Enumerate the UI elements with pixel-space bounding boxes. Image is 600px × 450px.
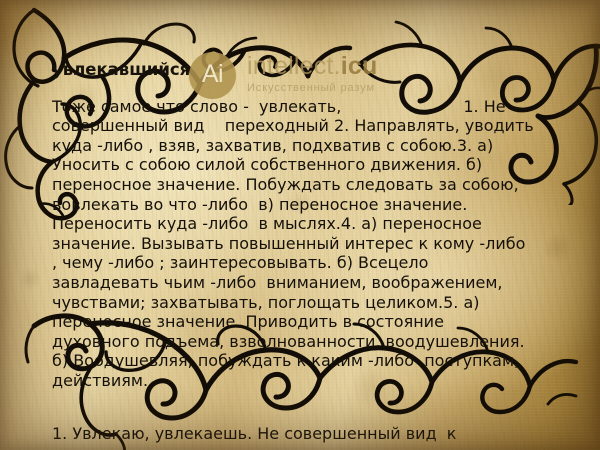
page-title: увлекавшийся [52, 60, 532, 81]
definition-body-text: Тоже самое что слово - увлекать, 1. Не с… [52, 97, 534, 391]
definition-tail-text: 1. Увлекаю, увлекаешь. Не совершенный ви… [52, 424, 572, 444]
content-area: увлекавшийся Тоже самое что слово - увле… [52, 60, 532, 391]
slide-canvas: Ai intellect.icu Искусственный разум увл… [0, 0, 600, 450]
